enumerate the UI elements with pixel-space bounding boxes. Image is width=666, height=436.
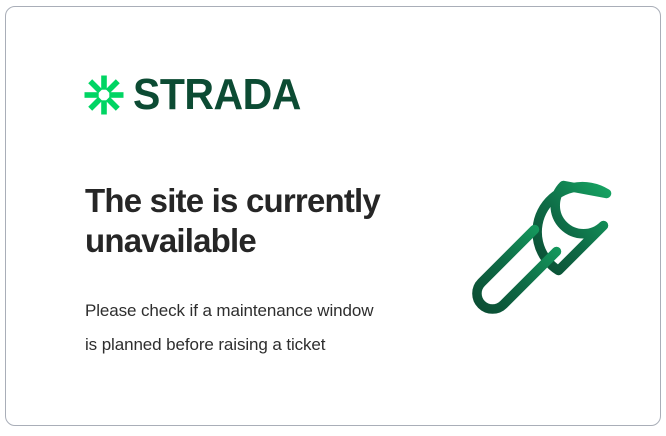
status-card: STRADA The site is currently unavailable…	[5, 6, 661, 426]
wrench-icon	[458, 159, 620, 319]
strada-asterisk-icon	[84, 75, 124, 115]
error-page: STRADA The site is currently unavailable…	[0, 0, 666, 436]
brand-wordmark: STRADA	[133, 73, 301, 116]
page-description: Please check if a maintenance window is …	[85, 294, 390, 362]
brand-logo: STRADA	[84, 74, 301, 115]
page-title: The site is currently unavailable	[85, 181, 415, 260]
